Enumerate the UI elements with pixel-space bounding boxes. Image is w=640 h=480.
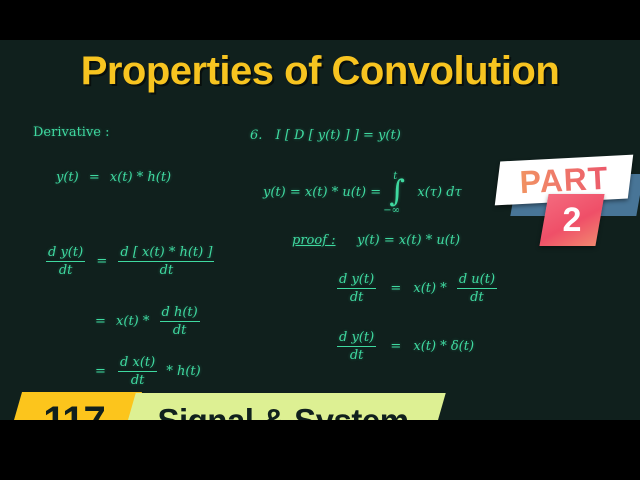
integral-integrand: x(τ) dτ: [417, 185, 461, 200]
left-eq3-equals: =: [95, 314, 106, 329]
left-eq2-lhs-fraction: d y(t) dt: [46, 245, 85, 278]
left-equation-1: y(t) = x(t) * h(t): [56, 170, 171, 185]
left-equation-2: d y(t) dt = d [ x(t) * h(t) ] dt: [44, 245, 216, 278]
left-equation-4: = d x(t) dt * h(t): [95, 355, 201, 388]
right-convolution-equation: y(t) = x(t) * u(t) =: [263, 185, 381, 200]
proof2-rhs-fraction: d u(t) dt: [457, 272, 497, 305]
proof2-equals: =: [390, 281, 401, 296]
proof3-lhs-numerator: d y(t): [337, 330, 376, 347]
left-eq4-equals: =: [95, 364, 106, 379]
proof3-rhs: x(t) * δ(t): [413, 339, 474, 354]
page-title: Properties of Convolution: [0, 48, 640, 94]
derivative-heading: Derivative :: [33, 125, 110, 140]
proof2-lhs-numerator: d y(t): [337, 272, 376, 289]
left-eq3-lead: x(t) *: [116, 314, 149, 329]
left-eq2-rhs-numerator: d [ x(t) * h(t) ]: [118, 245, 214, 262]
left-eq4-fraction: d x(t) dt: [118, 355, 157, 388]
proof2-rhs-denominator: dt: [457, 289, 497, 305]
proof-line-3: d y(t) dt = x(t) * δ(t): [335, 330, 474, 363]
right-convolution-row: y(t) = x(t) * u(t) = t ∫ −∞ x(τ) dτ: [263, 175, 462, 209]
proof2-lead: x(t) *: [413, 281, 446, 296]
left-eq2-rhs-denominator: dt: [118, 262, 214, 278]
right-item-row: 6. I [ D [ y(t) ] ] = y(t): [250, 128, 401, 143]
proof3-lhs-denominator: dt: [337, 347, 376, 363]
left-eq2-rhs-fraction: d [ x(t) * h(t) ] dt: [118, 245, 214, 278]
part-badge-number: 2: [544, 194, 600, 246]
left-equation-3: = x(t) * d h(t) dt: [95, 305, 202, 338]
video-frame: Properties of Convolution Derivative : y…: [0, 0, 640, 480]
part-badge: PART 2: [492, 148, 640, 248]
proof2-lhs-fraction: d y(t) dt: [337, 272, 376, 305]
left-eq2-equals: =: [96, 254, 107, 269]
proof3-equals: =: [390, 339, 401, 354]
left-eq4-denominator: dt: [118, 372, 157, 388]
proof2-rhs-numerator: d u(t): [457, 272, 497, 289]
left-eq1-equals: =: [89, 170, 100, 185]
proof-label: proof :: [292, 233, 336, 248]
left-eq4-tail: * h(t): [166, 364, 200, 379]
left-eq1-rhs: x(t) * h(t): [110, 170, 171, 185]
integral-symbol-group: t ∫ −∞: [387, 175, 403, 209]
left-eq1-lhs: y(t): [56, 170, 79, 185]
left-eq3-fraction: d h(t) dt: [160, 305, 200, 338]
left-eq2-lhs-numerator: d y(t): [46, 245, 85, 262]
letterbox-bottom: [0, 420, 640, 480]
lecture-slide: Properties of Convolution Derivative : y…: [0, 40, 640, 420]
integral-lower-limit: −∞: [383, 203, 400, 218]
proof-line-1: y(t) = x(t) * u(t): [357, 233, 460, 248]
proof3-lhs-fraction: d y(t) dt: [337, 330, 376, 363]
proof-line-2: d y(t) dt = x(t) * d u(t) dt: [335, 272, 499, 305]
right-identity: I [ D [ y(t) ] ] = y(t): [276, 128, 401, 143]
left-eq4-numerator: d x(t): [118, 355, 157, 372]
right-item-number: 6.: [250, 128, 262, 143]
left-eq2-lhs-denominator: dt: [46, 262, 85, 278]
proof2-lhs-denominator: dt: [337, 289, 376, 305]
letterbox-top: [0, 0, 640, 40]
left-eq3-denominator: dt: [160, 322, 200, 338]
left-eq3-numerator: d h(t): [160, 305, 200, 322]
